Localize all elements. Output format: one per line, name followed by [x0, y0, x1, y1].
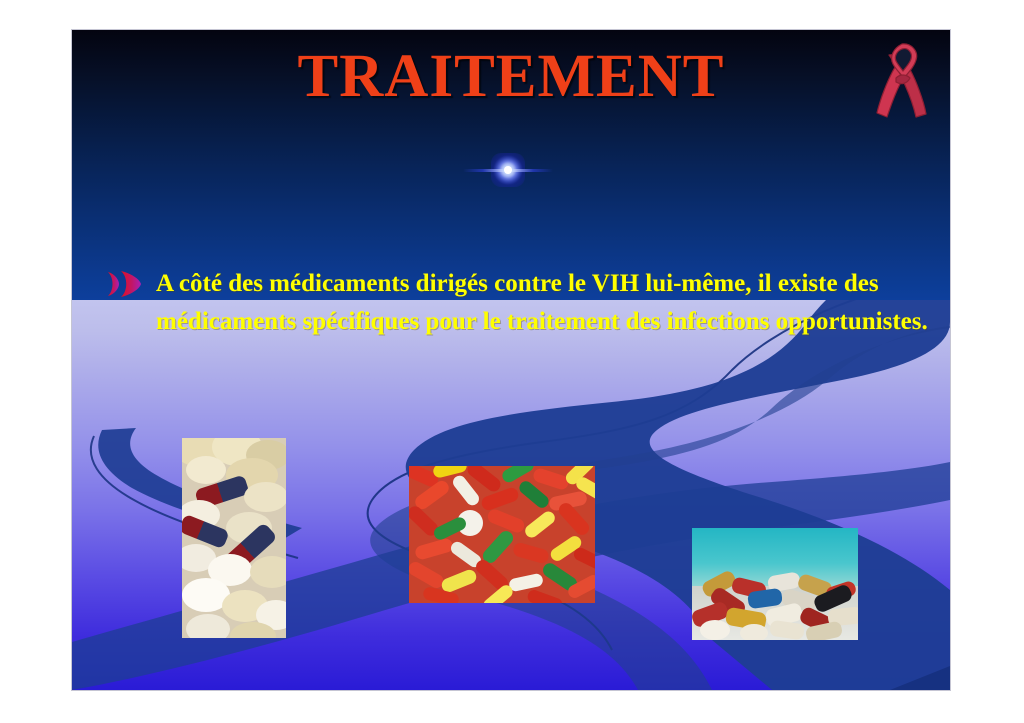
- pills-assorted-photo: [692, 528, 858, 640]
- bullet-row: A côté des médicaments dirigés contre le…: [106, 265, 928, 341]
- pills-colorful-capsules-photo: [409, 466, 595, 603]
- body-paragraph: A côté des médicaments dirigés contre le…: [156, 265, 928, 341]
- double-chevron-arrow-bullet-icon: [106, 270, 144, 298]
- red-awareness-ribbon-icon: [874, 38, 930, 120]
- sparkle-core: [504, 166, 512, 174]
- pills-white-tablets-photo: [182, 438, 286, 638]
- content-text-block: A côté des médicaments dirigés contre le…: [106, 265, 928, 341]
- slide-page: TRAITEMENT: [0, 0, 1024, 723]
- blue-lens-flare-sparkle-icon: [463, 148, 553, 194]
- presentation-slide: TRAITEMENT: [72, 30, 950, 690]
- slide-title: TRAITEMENT: [72, 42, 950, 112]
